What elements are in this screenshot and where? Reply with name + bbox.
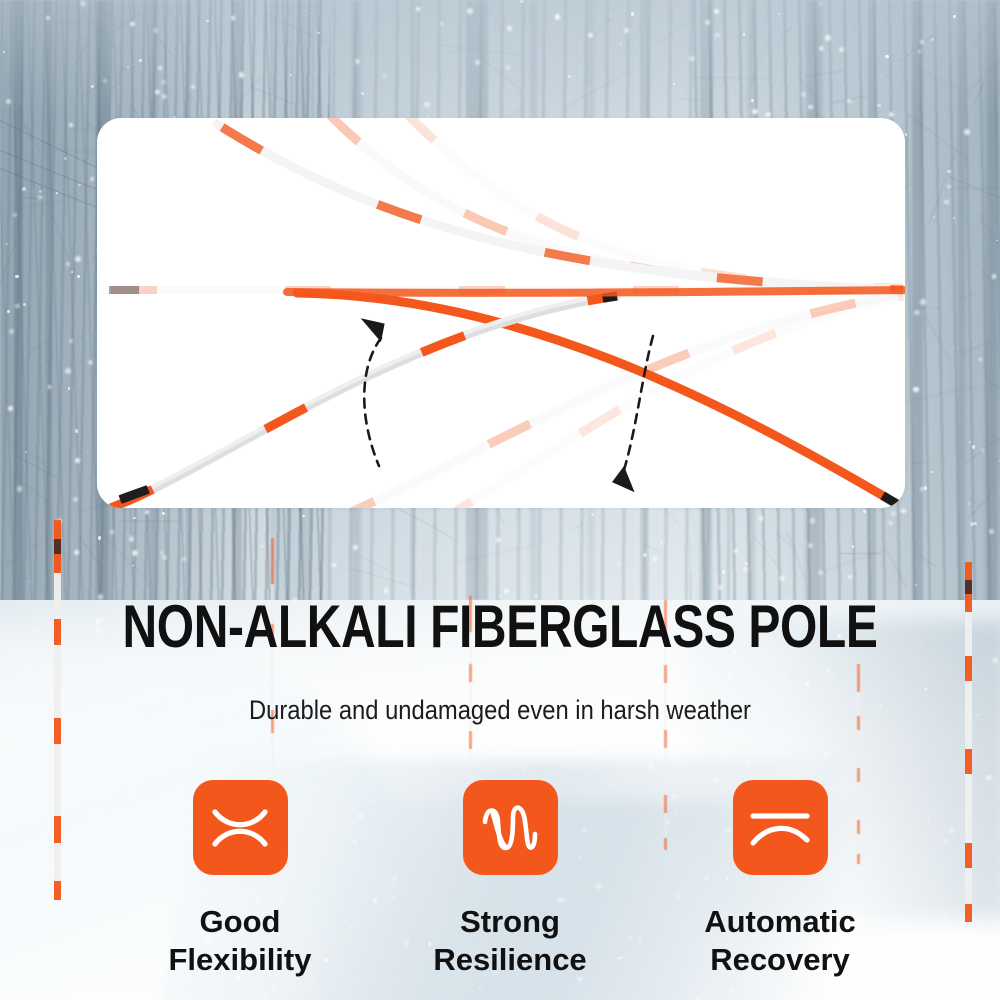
snowflake	[45, 833, 48, 836]
snowflake	[332, 563, 336, 567]
flex-arrow-left-head	[361, 313, 389, 345]
snowflake	[6, 243, 8, 245]
snowflake	[905, 133, 908, 136]
snowflake	[825, 35, 831, 41]
snowflake	[718, 585, 722, 589]
pole-hub-highlight	[287, 290, 903, 293]
snowflake	[69, 339, 73, 343]
snowflake	[942, 916, 946, 920]
snowflake	[424, 102, 430, 108]
snowflake	[78, 184, 80, 186]
snowflake	[104, 987, 108, 991]
snowflake	[728, 675, 732, 679]
snowflake	[507, 26, 511, 30]
snowflake	[225, 666, 228, 669]
snowflake	[54, 981, 59, 986]
snowflake	[25, 451, 26, 452]
snowflake	[938, 994, 943, 999]
straighten-arc-icon	[733, 780, 828, 875]
snowflake	[885, 55, 888, 58]
snowflake	[624, 28, 629, 33]
snowflake	[65, 368, 70, 373]
marker-reflective-band	[469, 731, 472, 749]
snowflake	[28, 989, 34, 995]
snowflake	[751, 99, 753, 101]
flex-arrow-left-arc	[364, 338, 381, 466]
product-image-card	[97, 118, 905, 508]
marker-reflective-band	[857, 664, 860, 692]
snowflake	[745, 562, 748, 565]
snowflake	[779, 576, 785, 582]
snowflake	[986, 775, 991, 780]
snowflake	[631, 12, 634, 15]
snowflake	[901, 509, 905, 513]
snowflake	[10, 978, 13, 981]
snowflake	[428, 115, 429, 116]
snowflake	[782, 739, 786, 743]
feature-label: Good Flexibility	[169, 903, 312, 979]
snowflake	[410, 772, 414, 776]
snowflake	[996, 240, 997, 241]
page-subtitle: Durable and undamaged even in harsh weat…	[60, 694, 940, 726]
snowflake	[290, 74, 292, 76]
snowflake	[38, 935, 42, 939]
snowflake	[968, 503, 970, 505]
snowflake	[38, 195, 43, 200]
pole-reflective-bands	[327, 294, 903, 508]
snowflake	[467, 8, 473, 14]
snowflake	[39, 190, 42, 193]
snowflake	[568, 75, 571, 78]
snowflake	[212, 677, 216, 681]
snowflake	[626, 672, 627, 673]
snowflake	[234, 761, 238, 765]
snowflake	[231, 16, 235, 20]
snowflake	[832, 674, 836, 678]
snowflake	[679, 678, 683, 682]
snowflake	[161, 80, 166, 85]
snowflake	[689, 56, 694, 61]
snowflake	[834, 981, 838, 985]
snowflake	[98, 536, 101, 539]
snowflake	[133, 517, 136, 520]
snowflake	[569, 680, 573, 684]
pole-reflective-bands	[217, 124, 903, 290]
snowflake	[781, 989, 783, 991]
snowflake	[969, 441, 971, 443]
snowflake	[989, 529, 993, 533]
snowflake	[920, 299, 926, 305]
pole-ghost-down-1	[327, 294, 903, 508]
feature-item[interactable]: Good Flexibility	[140, 780, 340, 979]
snowflake	[239, 72, 244, 77]
snowflake	[643, 553, 646, 556]
snowflake	[238, 669, 241, 672]
snowflake	[705, 20, 710, 25]
snowflake	[36, 839, 38, 841]
marker-reflective-band	[965, 904, 972, 922]
feature-label: Automatic Recovery	[704, 903, 856, 979]
tree-branch	[71, 129, 96, 131]
snowflake	[915, 670, 916, 671]
snowflake	[778, 13, 780, 15]
snowflake	[25, 769, 30, 774]
snowflake	[375, 989, 376, 990]
snowflake	[104, 785, 109, 790]
snowflake	[947, 170, 950, 173]
snowflake	[784, 671, 787, 674]
snowflake	[826, 670, 829, 673]
marker-reflective-band	[965, 749, 972, 774]
snowflake	[8, 406, 13, 411]
snowflake	[161, 94, 166, 99]
marker-reflective-band	[54, 816, 61, 843]
snowflake	[90, 177, 94, 181]
marker-reflective-band	[965, 843, 972, 868]
marker-reflective-band	[469, 664, 472, 682]
snowflake	[73, 497, 78, 502]
snowflake	[722, 570, 725, 573]
snowflake	[931, 471, 933, 473]
snowflake	[6, 99, 11, 104]
snowflake	[616, 755, 620, 759]
snowflake	[496, 538, 501, 543]
snowflake	[953, 217, 954, 218]
pole-solid-up	[217, 124, 903, 290]
snowflake	[992, 274, 997, 279]
snowflake	[69, 123, 73, 127]
snowflake	[45, 804, 47, 806]
snowflake	[39, 858, 43, 862]
snowflake	[44, 968, 45, 969]
snowflake	[302, 515, 304, 517]
snowflake	[317, 32, 320, 35]
snowflake	[808, 543, 813, 548]
flex-arrow-right-head	[611, 464, 639, 492]
snowflake	[953, 15, 955, 17]
snowflake	[818, 570, 823, 575]
pole-group	[105, 118, 903, 508]
snowflake	[160, 551, 164, 555]
snowflake	[891, 958, 896, 963]
flex-bowtie-icon	[193, 780, 288, 875]
snowflake	[555, 14, 561, 20]
pole-solid-lower-left	[105, 296, 617, 508]
snowflake	[723, 753, 727, 757]
snowflake	[155, 90, 159, 94]
snowflake	[914, 310, 919, 315]
snowflake	[964, 129, 970, 135]
snowflake	[116, 865, 121, 870]
snowflake	[17, 486, 22, 491]
snowflake	[352, 738, 357, 743]
snowflake	[264, 996, 268, 1000]
snowflake	[505, 65, 510, 70]
snowflake	[653, 557, 657, 561]
snowflake	[943, 839, 947, 843]
snowflake	[909, 465, 910, 466]
snowflake	[877, 104, 880, 107]
snowflake	[127, 66, 129, 68]
snowflake	[801, 92, 806, 97]
product-infographic-page: NON-ALKALI FIBERGLASS POLE Durable and u…	[0, 0, 1000, 1000]
snowflake	[715, 33, 719, 37]
spring-coil-icon	[463, 780, 558, 875]
snowflake	[214, 668, 218, 672]
feature-item[interactable]: Strong Resilience	[410, 780, 610, 979]
snowflake	[84, 726, 87, 729]
feature-list: Good FlexibilityStrong ResilienceAutomat…	[140, 780, 880, 979]
snowflake	[823, 752, 828, 757]
snowflake	[7, 310, 10, 313]
snowflake	[759, 516, 763, 520]
snowflake	[153, 28, 158, 33]
marker-brand-label	[965, 580, 972, 594]
marker-brand-label	[54, 539, 61, 554]
snowflake	[591, 513, 593, 515]
snowflake	[743, 33, 745, 35]
snowflake	[35, 628, 39, 632]
snowflake	[507, 666, 511, 670]
snowflake	[889, 665, 890, 666]
snowflake	[80, 1, 86, 7]
snowflake	[9, 329, 14, 334]
snowflake	[361, 92, 364, 95]
snowflake	[116, 981, 121, 986]
pole-rod	[397, 118, 903, 288]
snowflake	[620, 43, 621, 44]
snowflake	[104, 959, 106, 961]
snowflake	[22, 187, 26, 191]
marker-body	[965, 562, 972, 922]
feature-item[interactable]: Automatic Recovery	[680, 780, 880, 979]
snowflake	[962, 745, 963, 746]
flex-arrowheads	[361, 313, 639, 492]
snowflake	[993, 658, 998, 663]
snowflake	[648, 764, 653, 769]
snowflake	[75, 458, 80, 463]
pole-rod	[327, 294, 903, 508]
pole-shading	[105, 298, 617, 508]
snowflake	[945, 993, 949, 997]
snowflake	[87, 452, 88, 453]
marker-reflective-band	[664, 730, 667, 748]
snowflake	[839, 47, 843, 51]
pole-flex-diagram	[97, 118, 905, 508]
snowflake	[145, 510, 149, 514]
feature-label: Strong Resilience	[433, 903, 586, 979]
snowflake	[75, 256, 81, 262]
snowflake	[944, 200, 949, 205]
snowflake	[132, 550, 138, 556]
snowflake	[931, 38, 934, 41]
marker-reflective-band	[965, 656, 972, 681]
marker-reflective-band	[54, 881, 61, 900]
driveway-marker-pole	[965, 562, 972, 922]
snowflake	[93, 902, 95, 904]
snowflake	[972, 445, 975, 448]
snowflake	[974, 522, 977, 525]
snowflake	[660, 541, 662, 543]
pole-ghost-up-2	[397, 118, 903, 288]
marker-reflective-band	[271, 538, 274, 584]
snowflake	[191, 85, 195, 89]
snowflake	[625, 994, 627, 996]
marker-reflective-band	[54, 619, 61, 646]
snowflake	[130, 791, 135, 796]
snowflake	[810, 518, 815, 523]
snowflake	[928, 817, 930, 819]
snowflake	[746, 759, 751, 764]
snowflake	[913, 387, 918, 392]
pole-rod	[217, 124, 903, 290]
snowflake	[98, 868, 101, 871]
snowflake	[440, 22, 444, 26]
page-title: NON-ALKALI FIBERGLASS POLE	[100, 594, 900, 660]
pole-brand-sticker-secondary	[109, 286, 139, 294]
snowflake	[129, 536, 134, 541]
marker-reflective-band	[664, 665, 667, 683]
snowflake	[765, 112, 771, 118]
